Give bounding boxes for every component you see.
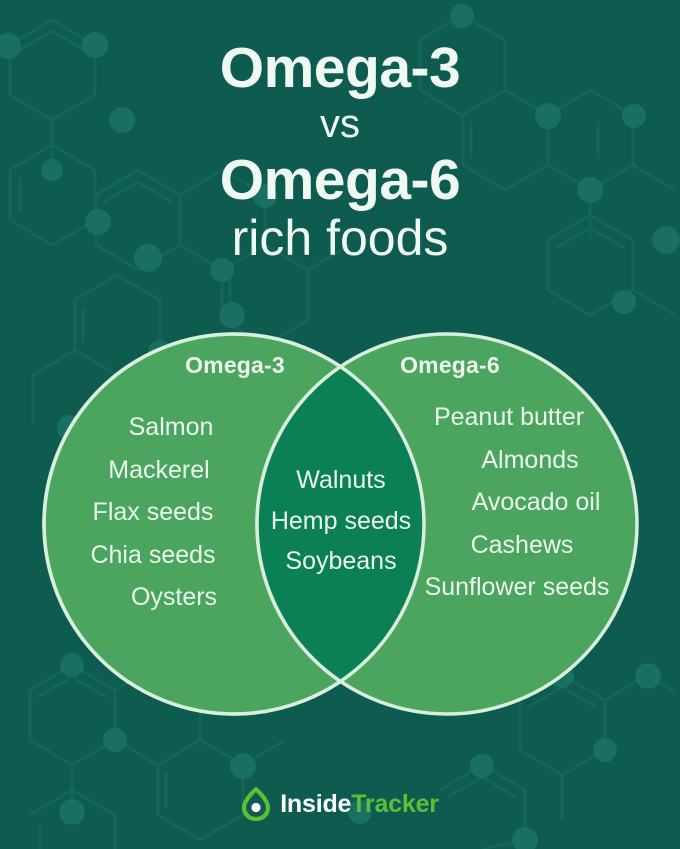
page-title: Omega-3 vs Omega-6 rich foods <box>0 38 680 268</box>
logo-wordmark: InsideTracker <box>280 792 439 817</box>
list-item: Walnuts <box>248 465 434 496</box>
logo-text-inside: Inside <box>280 790 351 818</box>
venn-heading-omega3: Omega-3 <box>140 352 330 379</box>
list-item: Cashews <box>412 530 662 561</box>
infographic-page: Omega-3 vs Omega-6 rich foods Omega-3 Om… <box>0 0 680 849</box>
title-line-omega6: Omega-6 <box>0 150 680 211</box>
list-item: Soybeans <box>248 546 434 577</box>
list-item: Chia seeds <box>30 540 270 571</box>
list-item: Hemp seeds <box>248 506 434 537</box>
droplet-icon <box>241 787 271 821</box>
omega6-food-list: Peanut butter Almonds Avocado oil Cashew… <box>412 402 662 615</box>
list-item: Avocado oil <box>412 487 662 518</box>
list-item: Mackerel <box>30 455 270 486</box>
venn-heading-omega6: Omega-6 <box>355 352 545 379</box>
list-item: Sunflower seeds <box>412 572 662 603</box>
list-item: Oysters <box>30 582 270 613</box>
list-item: Almonds <box>412 445 662 476</box>
title-line-rich-foods: rich foods <box>0 209 680 268</box>
list-item: Peanut butter <box>412 402 662 433</box>
title-line-vs: vs <box>0 101 680 148</box>
logo-text-tracker: Tracker <box>351 790 439 818</box>
list-item: Salmon <box>30 412 270 443</box>
brand-logo[interactable]: InsideTracker <box>0 787 680 821</box>
omega3-food-list: Salmon Mackerel Flax seeds Chia seeds Oy… <box>30 412 270 625</box>
shared-food-list: Walnuts Hemp seeds Soybeans <box>248 465 434 587</box>
list-item: Flax seeds <box>30 497 270 528</box>
title-line-omega3: Omega-3 <box>0 38 680 99</box>
